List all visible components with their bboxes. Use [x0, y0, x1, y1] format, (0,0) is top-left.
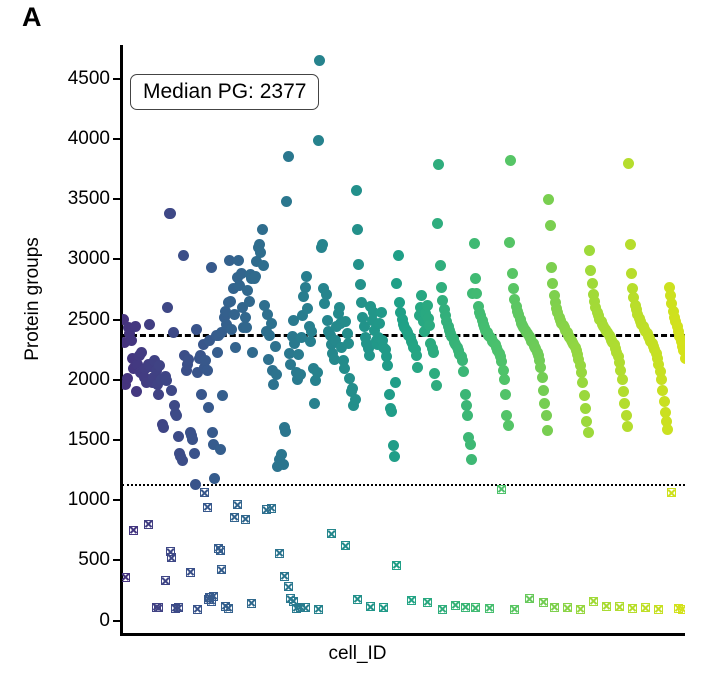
cell-data-point	[623, 158, 634, 169]
cell-data-point	[364, 350, 375, 361]
cell-data-point	[539, 398, 550, 409]
excluded-cell-marker	[122, 573, 130, 582]
cell-data-point	[388, 440, 399, 451]
cell-data-point	[166, 385, 177, 396]
cell-data-point	[625, 239, 636, 250]
cell-data-point	[465, 439, 476, 450]
cell-data-point	[621, 410, 632, 421]
cell-data-point	[469, 238, 480, 249]
cell-data-point	[374, 318, 385, 329]
excluded-cell-marker	[654, 605, 663, 614]
cell-data-point	[302, 303, 313, 314]
cell-data-point	[154, 360, 165, 371]
cell-data-point	[334, 302, 345, 313]
excluded-cell-marker	[144, 520, 153, 529]
cell-data-point	[191, 324, 202, 335]
excluded-cell-marker	[314, 605, 323, 614]
cell-data-point	[206, 262, 217, 273]
excluded-cell-marker	[392, 561, 401, 570]
cell-data-point	[504, 237, 515, 248]
cell-data-point	[431, 380, 442, 391]
excluded-cell-marker	[209, 592, 218, 601]
cell-data-point	[266, 318, 277, 329]
y-tick-label: 500	[0, 549, 118, 571]
cell-data-point	[295, 369, 306, 380]
cell-data-point	[433, 159, 444, 170]
excluded-cell-marker	[353, 595, 362, 604]
y-tick-label: 0	[0, 610, 118, 632]
cell-data-point	[264, 330, 275, 341]
cell-data-point	[376, 307, 387, 318]
y-tick-label: 1000	[0, 489, 118, 511]
excluded-cell-marker	[280, 572, 289, 581]
x-axis-title: cell_ID	[0, 643, 715, 665]
cell-data-point	[542, 425, 553, 436]
cell-data-point	[281, 196, 292, 207]
excluded-cell-marker	[451, 601, 460, 610]
cell-data-point	[225, 296, 236, 307]
excluded-cell-marker	[129, 526, 138, 535]
cell-data-point	[470, 273, 481, 284]
cell-data-point	[247, 347, 258, 358]
cell-data-point	[178, 250, 189, 261]
cell-data-point	[255, 247, 266, 258]
excluded-cell-marker	[241, 515, 250, 524]
cell-data-point	[355, 279, 366, 290]
cell-data-point	[538, 385, 549, 396]
cell-data-point	[466, 454, 477, 465]
cell-data-point	[508, 283, 519, 294]
cell-data-point	[196, 389, 207, 400]
cell-data-point	[581, 416, 592, 427]
excluded-cell-marker	[233, 500, 242, 509]
cell-data-point	[144, 319, 155, 330]
cell-data-point	[321, 289, 332, 300]
cell-data-point	[207, 427, 218, 438]
median-annotation-box: Median PG: 2377	[130, 74, 319, 110]
cell-data-point	[353, 259, 364, 270]
cell-data-point	[215, 444, 226, 455]
excluded-cell-marker	[678, 605, 685, 614]
cell-data-point	[389, 451, 400, 462]
cell-data-point	[382, 360, 393, 371]
cell-data-point	[393, 250, 404, 261]
excluded-cell-marker	[203, 503, 212, 512]
cell-data-point	[168, 327, 179, 338]
cell-data-point	[122, 373, 133, 384]
excluded-cell-marker	[423, 598, 432, 607]
cell-data-point	[300, 282, 311, 293]
cell-data-point	[507, 268, 518, 279]
cell-data-point	[217, 390, 228, 401]
y-tick-label: 4000	[0, 128, 118, 150]
scatter-plot-area	[122, 45, 685, 635]
cell-data-point	[173, 431, 184, 442]
cell-data-point	[391, 278, 402, 289]
cell-data-point	[187, 434, 198, 445]
y-tick-label: 1500	[0, 429, 118, 451]
cell-data-point	[412, 362, 423, 373]
cell-data-point	[177, 455, 188, 466]
cell-data-point	[352, 224, 363, 235]
excluded-cell-marker	[161, 576, 170, 585]
excluded-cell-marker	[438, 605, 447, 614]
cell-data-point	[432, 218, 443, 229]
cell-data-point	[301, 271, 312, 282]
cutoff-threshold-line	[122, 484, 685, 486]
cell-data-point	[233, 255, 244, 266]
cell-data-point	[503, 420, 514, 431]
cell-data-point	[584, 245, 595, 256]
cell-data-point	[622, 421, 633, 432]
excluded-cell-marker	[284, 582, 293, 591]
cell-data-point	[257, 224, 268, 235]
excluded-cell-marker	[379, 603, 388, 612]
cell-data-point	[422, 300, 433, 311]
excluded-cell-marker	[615, 602, 624, 611]
cell-data-point	[250, 271, 261, 282]
cell-data-point	[189, 448, 200, 459]
cell-data-point	[263, 354, 274, 365]
cell-data-point	[460, 389, 471, 400]
cell-data-point	[656, 374, 667, 385]
cell-data-point	[162, 302, 173, 313]
excluded-cell-marker	[550, 603, 559, 612]
panel-label: A	[22, 4, 42, 31]
cell-data-point	[662, 424, 673, 435]
excluded-cell-marker	[485, 604, 494, 613]
cell-data-point	[314, 55, 325, 66]
cell-data-point	[429, 368, 440, 379]
cell-data-point	[457, 355, 468, 366]
cell-data-point	[618, 386, 629, 397]
cell-data-point	[541, 410, 552, 421]
excluded-cell-marker	[301, 603, 310, 612]
y-axis-title: Protein groups	[22, 204, 44, 394]
cell-data-point	[212, 347, 223, 358]
excluded-cell-marker	[497, 485, 506, 494]
cell-data-point	[298, 291, 309, 302]
cell-data-point	[436, 282, 447, 293]
cell-data-point	[386, 406, 397, 417]
cell-data-point	[240, 312, 251, 323]
excluded-cell-marker	[154, 603, 163, 612]
excluded-cell-marker	[407, 596, 416, 605]
excluded-cell-marker	[224, 604, 233, 613]
cell-data-point	[244, 296, 255, 307]
excluded-cell-marker	[167, 553, 176, 562]
y-tick-label: 3000	[0, 248, 118, 270]
cell-data-point	[183, 354, 194, 365]
excluded-cell-marker	[366, 602, 375, 611]
cell-data-point	[165, 208, 176, 219]
cell-data-point	[461, 400, 472, 411]
cell-data-point	[158, 422, 169, 433]
excluded-cell-marker	[267, 504, 276, 513]
excluded-cell-marker	[247, 599, 256, 608]
cell-data-point	[411, 350, 422, 361]
cell-data-point	[547, 278, 558, 289]
excluded-cell-marker	[461, 603, 470, 612]
excluded-cell-marker	[230, 513, 239, 522]
cell-data-point	[319, 298, 330, 309]
cell-data-point	[340, 316, 351, 327]
cell-data-point	[579, 390, 590, 401]
y-tick-label: 2500	[0, 309, 118, 331]
y-tick-label: 4500	[0, 68, 118, 90]
cell-data-point	[270, 341, 281, 352]
cell-data-point	[626, 268, 637, 279]
cell-data-point	[309, 398, 320, 409]
cell-data-point	[577, 377, 588, 388]
cell-data-point	[580, 403, 591, 414]
cell-data-point	[153, 389, 164, 400]
cell-data-point	[202, 365, 213, 376]
cell-data-point	[585, 265, 596, 276]
cell-data-point	[351, 185, 362, 196]
cell-data-point	[537, 372, 548, 383]
cell-data-point	[587, 278, 598, 289]
excluded-cell-marker	[576, 605, 585, 614]
cell-data-point	[126, 335, 137, 346]
excluded-cell-marker	[641, 603, 650, 612]
excluded-cell-marker	[341, 541, 350, 550]
excluded-cell-marker	[539, 598, 548, 607]
cell-data-point	[343, 338, 354, 349]
excluded-cell-marker	[186, 568, 195, 577]
cell-data-point	[305, 336, 316, 347]
y-tick-label: 3500	[0, 188, 118, 210]
cell-data-point	[241, 322, 252, 333]
cell-data-point	[230, 342, 241, 353]
cell-data-point	[350, 394, 361, 405]
excluded-cell-marker	[174, 603, 183, 612]
cell-data-point	[313, 135, 324, 146]
cell-data-point	[390, 377, 401, 388]
cell-data-point	[543, 194, 554, 205]
cell-data-point	[499, 374, 510, 385]
cell-data-point	[545, 220, 556, 231]
figure-panel: A Protein groups cell_ID 050010001500200…	[0, 0, 715, 677]
cell-data-point	[271, 369, 282, 380]
cell-data-point	[226, 324, 237, 335]
y-tick-label: 2000	[0, 369, 118, 391]
excluded-cell-marker	[667, 488, 676, 497]
cell-data-point	[583, 427, 594, 438]
cell-data-point	[293, 349, 304, 360]
cell-data-point	[546, 262, 557, 273]
excluded-cell-marker	[327, 529, 336, 538]
cell-data-point	[131, 386, 142, 397]
excluded-cell-marker	[471, 603, 480, 612]
cell-data-point	[312, 367, 323, 378]
cell-data-point	[657, 385, 668, 396]
excluded-cell-marker	[275, 549, 284, 558]
cell-data-point	[278, 459, 289, 470]
excluded-cell-marker	[217, 565, 226, 574]
cell-data-point	[130, 321, 141, 332]
cell-data-point	[659, 396, 670, 407]
cell-data-point	[280, 426, 291, 437]
excluded-cell-marker	[563, 603, 572, 612]
excluded-cell-marker	[193, 605, 202, 614]
cell-data-point	[471, 288, 482, 299]
cell-data-point	[428, 347, 439, 358]
cell-data-point	[171, 410, 182, 421]
cell-data-point	[424, 320, 435, 331]
cell-data-point	[209, 473, 220, 484]
cell-data-point	[258, 260, 269, 271]
excluded-cell-marker	[216, 546, 225, 555]
cell-data-point	[268, 379, 279, 390]
cell-data-point	[384, 389, 395, 400]
cell-data-point	[500, 389, 511, 400]
excluded-cell-marker	[628, 604, 637, 613]
cell-data-point	[680, 353, 686, 364]
cell-data-point	[458, 366, 469, 377]
excluded-cell-marker	[200, 488, 209, 497]
cell-data-point	[203, 402, 214, 413]
cell-data-point	[619, 398, 630, 409]
cell-data-point	[435, 260, 446, 271]
excluded-cell-marker	[602, 602, 611, 611]
cell-data-point	[136, 347, 147, 358]
excluded-cell-marker	[589, 597, 598, 606]
cell-data-point	[505, 155, 516, 166]
cell-data-point	[283, 151, 294, 162]
cell-data-point	[462, 410, 473, 421]
excluded-cell-marker	[525, 594, 534, 603]
cell-data-point	[242, 285, 253, 296]
excluded-cell-marker	[510, 605, 519, 614]
cell-data-point	[347, 383, 358, 394]
cell-data-point	[617, 374, 628, 385]
